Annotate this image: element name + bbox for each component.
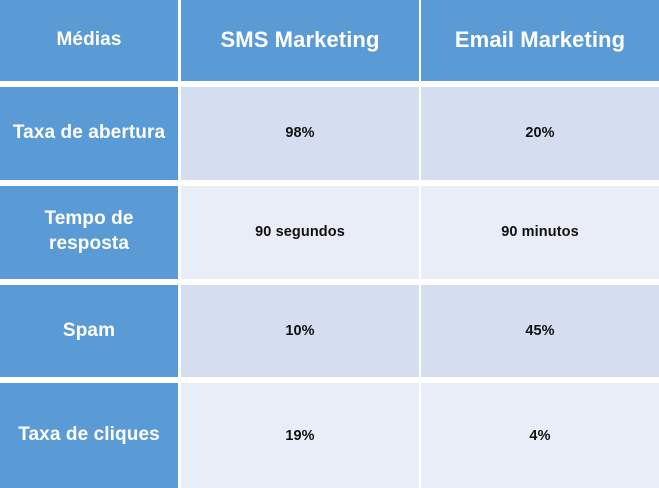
cell-email-taxa-de-cliques: 4%	[421, 383, 659, 488]
column-header-medias: Médias	[0, 0, 178, 81]
cell-email-taxa-de-abertura: 20%	[421, 87, 659, 180]
cell-email-tempo-de-resposta: 90 minutos	[421, 186, 659, 279]
table-header-row: Médias SMS Marketing Email Marketing	[0, 0, 659, 81]
cell-sms-tempo-de-resposta: 90 segundos	[181, 186, 419, 279]
table-row: Taxa de cliques 19% 4%	[0, 383, 659, 488]
row-label-taxa-de-cliques: Taxa de cliques	[0, 383, 178, 488]
cell-sms-spam: 10%	[181, 285, 419, 378]
cell-sms-taxa-de-abertura: 98%	[181, 87, 419, 180]
cell-sms-taxa-de-cliques: 19%	[181, 383, 419, 488]
table-row: Spam 10% 45%	[0, 285, 659, 378]
column-header-email-marketing: Email Marketing	[421, 0, 659, 81]
row-label-tempo-de-resposta: Tempo de resposta	[0, 186, 178, 279]
table-row: Taxa de abertura 98% 20%	[0, 87, 659, 180]
row-label-spam: Spam	[0, 285, 178, 378]
column-header-sms-marketing: SMS Marketing	[181, 0, 419, 81]
comparison-table: Médias SMS Marketing Email Marketing Tax…	[0, 0, 659, 488]
cell-email-spam: 45%	[421, 285, 659, 378]
table-row: Tempo de resposta 90 segundos 90 minutos	[0, 186, 659, 279]
row-label-taxa-de-abertura: Taxa de abertura	[0, 87, 178, 180]
